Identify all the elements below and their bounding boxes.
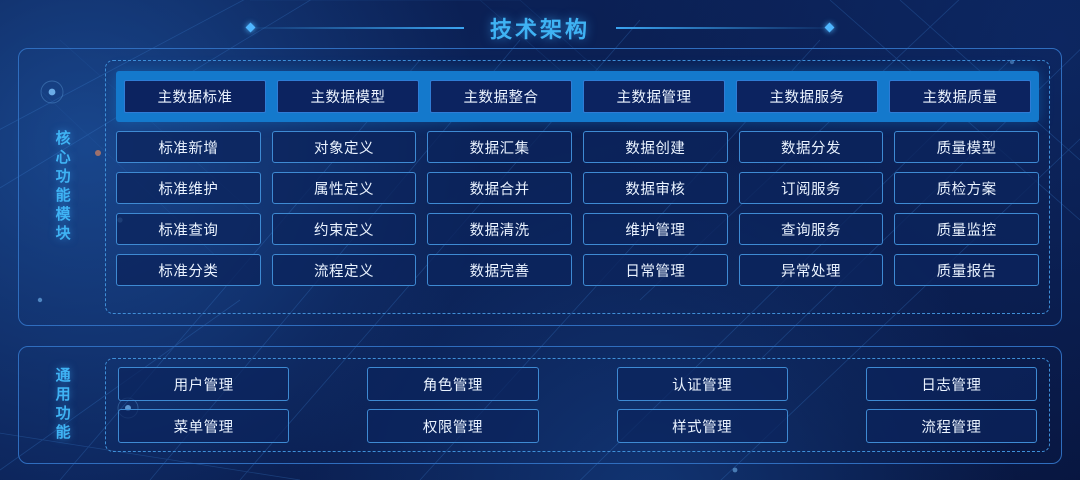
core-header-cell[interactable]: 主数据整合 <box>430 80 572 113</box>
common-cell[interactable]: 角色管理 <box>367 367 538 401</box>
common-cell[interactable]: 流程管理 <box>866 409 1037 443</box>
core-cell[interactable]: 标准查询 <box>116 213 261 245</box>
core-cell[interactable]: 数据审核 <box>583 172 728 204</box>
architecture-diagram: 技术架构 核心功能模块 主数据标准 主数据模型 主数据整合 主数据管理 主数据服… <box>0 0 1080 480</box>
title-rule-left <box>250 27 464 29</box>
core-function-panel: 核心功能模块 主数据标准 主数据模型 主数据整合 主数据管理 主数据服务 主数据… <box>18 48 1062 326</box>
core-cell[interactable]: 异常处理 <box>739 254 884 286</box>
core-header-band: 主数据标准 主数据模型 主数据整合 主数据管理 主数据服务 主数据质量 <box>116 71 1039 122</box>
core-cell[interactable]: 查询服务 <box>739 213 884 245</box>
core-row: 标准查询 约束定义 数据清洗 维护管理 查询服务 质量监控 <box>116 213 1039 245</box>
core-header-cell[interactable]: 主数据管理 <box>583 80 725 113</box>
core-header-cell[interactable]: 主数据服务 <box>736 80 878 113</box>
core-cell[interactable]: 订阅服务 <box>739 172 884 204</box>
core-cell[interactable]: 对象定义 <box>272 131 417 163</box>
common-cell[interactable]: 权限管理 <box>367 409 538 443</box>
core-cell[interactable]: 维护管理 <box>583 213 728 245</box>
core-function-panel-label: 核心功能模块 <box>19 49 105 325</box>
core-cell[interactable]: 标准维护 <box>116 172 261 204</box>
core-cell[interactable]: 数据清洗 <box>427 213 572 245</box>
common-cell[interactable]: 认证管理 <box>617 367 788 401</box>
page-title-row: 技术架构 <box>0 10 1080 46</box>
core-cell[interactable]: 流程定义 <box>272 254 417 286</box>
core-body-rows: 标准新增 对象定义 数据汇集 数据创建 数据分发 质量模型 标准维护 属性定义 … <box>116 131 1039 286</box>
core-cell[interactable]: 数据创建 <box>583 131 728 163</box>
core-cell[interactable]: 约束定义 <box>272 213 417 245</box>
common-cell[interactable]: 日志管理 <box>866 367 1037 401</box>
page-title: 技术架构 <box>464 12 616 44</box>
core-cell[interactable]: 质量监控 <box>894 213 1039 245</box>
title-rule-right-diamond-icon <box>825 23 835 33</box>
common-function-panel-label: 通用功能 <box>19 347 105 463</box>
title-rule-left-bar <box>250 27 464 29</box>
common-function-panel: 通用功能 用户管理 角色管理 认证管理 日志管理 菜单管理 权限管理 样式管理 … <box>18 346 1062 464</box>
common-row: 用户管理 角色管理 认证管理 日志管理 <box>118 367 1037 401</box>
core-cell[interactable]: 质检方案 <box>894 172 1039 204</box>
core-row: 标准分类 流程定义 数据完善 日常管理 异常处理 质量报告 <box>116 254 1039 286</box>
core-cell[interactable]: 标准新增 <box>116 131 261 163</box>
core-header-cell[interactable]: 主数据模型 <box>277 80 419 113</box>
core-header-cell[interactable]: 主数据质量 <box>889 80 1031 113</box>
common-cell[interactable]: 菜单管理 <box>118 409 289 443</box>
core-cell[interactable]: 属性定义 <box>272 172 417 204</box>
title-rule-right-bar <box>616 27 830 29</box>
title-rule-left-diamond-icon <box>246 23 256 33</box>
core-cell[interactable]: 质量报告 <box>894 254 1039 286</box>
common-row: 菜单管理 权限管理 样式管理 流程管理 <box>118 409 1037 443</box>
title-rule-right <box>616 27 830 29</box>
core-cell[interactable]: 数据分发 <box>739 131 884 163</box>
core-function-inner-frame: 主数据标准 主数据模型 主数据整合 主数据管理 主数据服务 主数据质量 标准新增… <box>105 60 1050 314</box>
core-row: 标准维护 属性定义 数据合并 数据审核 订阅服务 质检方案 <box>116 172 1039 204</box>
core-cell[interactable]: 日常管理 <box>583 254 728 286</box>
common-cell[interactable]: 样式管理 <box>617 409 788 443</box>
core-cell[interactable]: 标准分类 <box>116 254 261 286</box>
core-cell[interactable]: 数据合并 <box>427 172 572 204</box>
core-cell[interactable]: 数据完善 <box>427 254 572 286</box>
core-header-cell[interactable]: 主数据标准 <box>124 80 266 113</box>
core-cell[interactable]: 质量模型 <box>894 131 1039 163</box>
core-row: 标准新增 对象定义 数据汇集 数据创建 数据分发 质量模型 <box>116 131 1039 163</box>
core-cell[interactable]: 数据汇集 <box>427 131 572 163</box>
common-function-inner-frame: 用户管理 角色管理 认证管理 日志管理 菜单管理 权限管理 样式管理 流程管理 <box>105 358 1050 452</box>
common-cell[interactable]: 用户管理 <box>118 367 289 401</box>
